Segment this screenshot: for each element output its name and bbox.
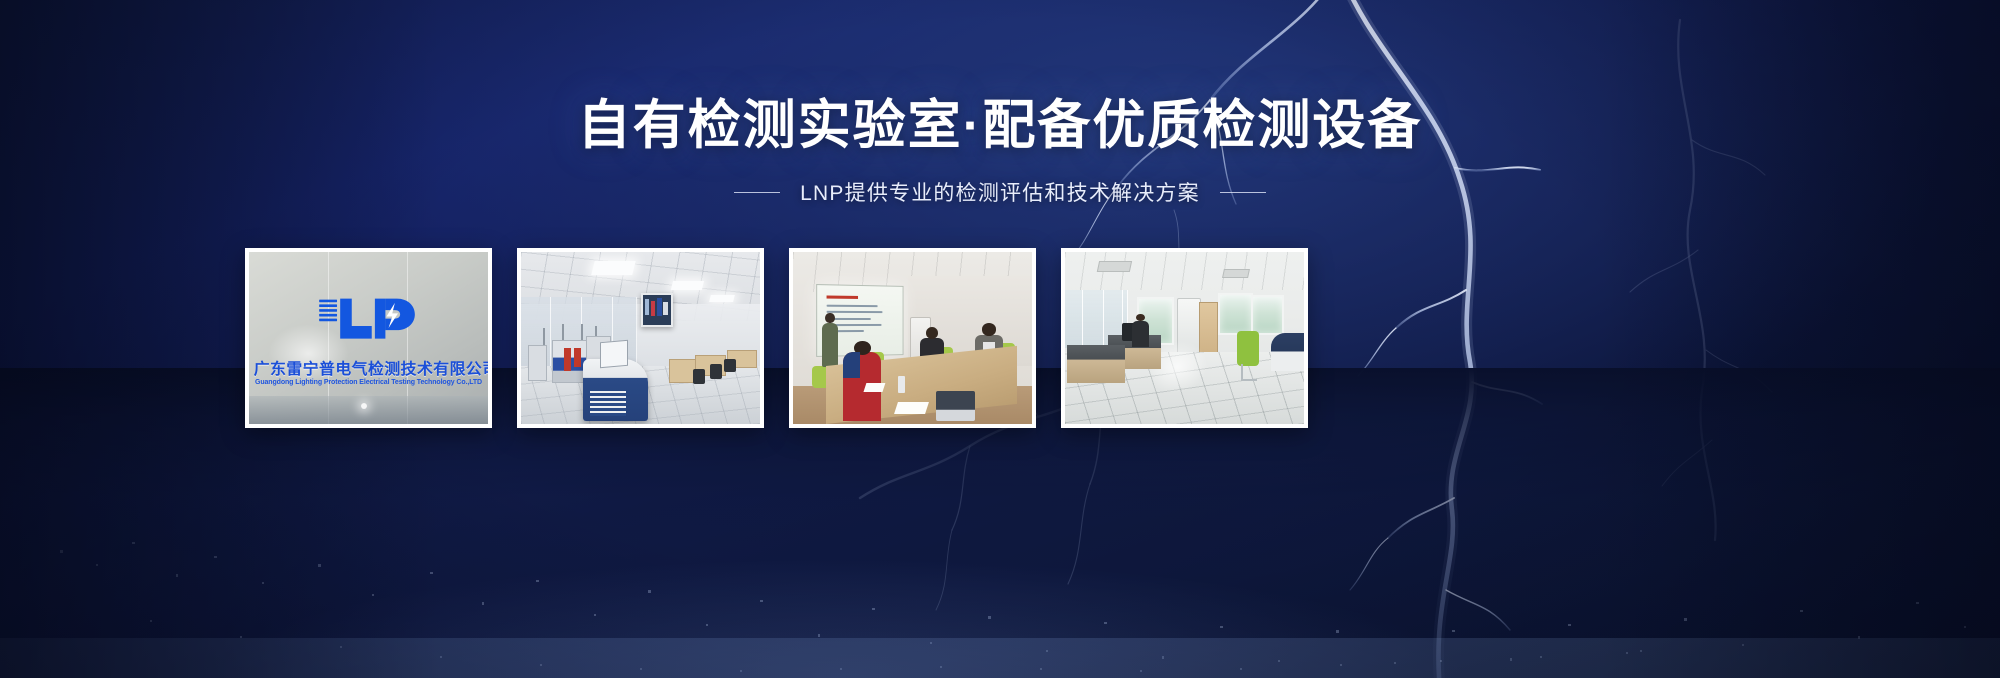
photo-card-meeting-room[interactable] [789,248,1036,428]
company-name-en: Guangdong Lighting Protection Electrical… [254,379,483,386]
page-title: 自有检测实验室·配备优质检测设备 [0,96,2000,155]
photo-image [1065,252,1304,424]
hero-copy: 自有检测实验室·配备优质检测设备 LNP提供专业的检测评估和技术解决方案 [0,96,2000,207]
page-subtitle: LNP提供专业的检测评估和技术解决方案 [800,177,1200,207]
photo-gallery: 广东雷宁普电气检测技术有限公司 Guangdong Lighting Prote… [245,248,1308,428]
subtitle-row: LNP提供专业的检测评估和技术解决方案 [0,177,2000,207]
dash-left-icon [734,192,780,193]
hero-banner: 自有检测实验室·配备优质检测设备 LNP提供专业的检测评估和技术解决方案 [0,0,2000,678]
wall-monitor [641,293,674,326]
laptop [936,391,974,420]
lnp-logo-icon [316,283,421,355]
photo-card-company-logo-wall[interactable]: 广东雷宁普电气检测技术有限公司 Guangdong Lighting Prote… [245,248,492,428]
photo-card-office-area[interactable] [1061,248,1308,428]
photo-image [793,252,1032,424]
photo-card-testing-laboratory[interactable] [517,248,764,428]
photo-image: 广东雷宁普电气检测技术有限公司 Guangdong Lighting Prote… [249,252,488,424]
company-name-cn: 广东雷宁普电气检测技术有限公司 [254,357,483,379]
dash-right-icon [1220,192,1266,193]
photo-image [521,252,760,424]
